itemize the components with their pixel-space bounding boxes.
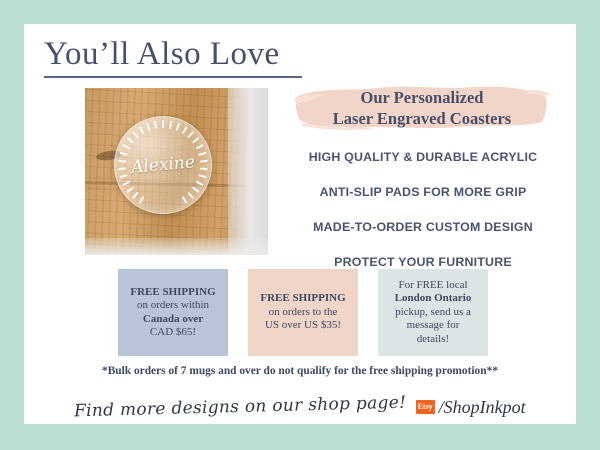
wreath-leaf-icon <box>154 121 157 129</box>
shipping-line: FREE SHIPPING <box>130 286 215 298</box>
acrylic-coaster: Alexine <box>114 116 212 214</box>
wreath-leaf-icon <box>122 144 130 149</box>
wreath-leaf-icon <box>192 186 200 192</box>
shipping-line: pickup, send us a <box>395 306 471 318</box>
page-title: You’ll Also Love <box>44 34 344 74</box>
coaster-engraved-name: Alexine <box>114 151 211 179</box>
wreath-leaf-icon <box>138 126 144 134</box>
headline-block: Our Personalized Laser Engraved Coasters <box>292 82 552 134</box>
wreath-leaf-icon <box>119 152 127 156</box>
wreath-leaf-icon <box>132 192 139 199</box>
shipping-line: US over US $35! <box>265 319 341 331</box>
wreath-leaf-icon <box>122 181 130 186</box>
shipping-line: message for <box>407 319 460 331</box>
shipping-box-text: FREE SHIPPING on orders within Canada ov… <box>125 286 220 340</box>
headline-line-1: Our Personalized <box>361 88 484 107</box>
photo-right-background <box>228 88 268 255</box>
promo-headline: Our Personalized Laser Engraved Coasters <box>292 87 552 129</box>
feature-item: ANTI-SLIP PADS FOR MORE GRIP <box>282 185 564 199</box>
wreath-leaf-icon <box>196 181 204 186</box>
wreath-leaf-icon <box>187 192 194 199</box>
feature-item: HIGH QUALITY & DURABLE ACRYLIC <box>282 150 564 164</box>
wreath-leaf-icon <box>187 131 194 138</box>
photo-bottom-background <box>85 238 268 255</box>
wreath-leaf-icon <box>182 196 188 204</box>
bulk-order-disclaimer: *Bulk orders of 7 mugs and over do not q… <box>24 365 576 377</box>
feature-item: MADE-TO-ORDER CUSTOM DESIGN <box>282 220 564 234</box>
shipping-box-canada: FREE SHIPPING on orders within Canada ov… <box>118 269 228 356</box>
shipping-line: CAD $65! <box>150 326 196 338</box>
wreath-leaf-icon <box>198 174 206 178</box>
product-photo: Alexine <box>85 88 268 255</box>
wreath-leaf-icon <box>126 186 134 192</box>
wreath-leaf-icon <box>126 137 134 143</box>
white-card: You’ll Also Love Alexine Our P <box>24 24 576 424</box>
shipping-box-us: FREE SHIPPING on orders to the US over U… <box>248 269 358 356</box>
shipping-line: details! <box>417 333 449 345</box>
wreath-leaf-icon <box>192 137 200 143</box>
headline-line-2: Laser Engraved Coasters <box>333 109 511 128</box>
footer-script-text: Find more designs on our shop page! <box>74 393 407 422</box>
etsy-shop-handle[interactable]: /ShopInkpot <box>439 397 526 418</box>
shipping-box-local-pickup: For FREE local London Ontario pickup, se… <box>378 269 488 356</box>
wreath-leaf-icon <box>182 126 188 134</box>
shipping-box-text: For FREE local London Ontario pickup, se… <box>390 279 477 347</box>
poster-canvas: You’ll Also Love Alexine Our P <box>0 0 600 450</box>
shipping-line: London Ontario <box>395 292 472 304</box>
wreath-leaf-icon <box>132 131 139 138</box>
shipping-line: on orders to the <box>269 306 338 318</box>
wreath-leaf-icon <box>146 123 151 131</box>
etsy-logo-icon[interactable]: Etsy <box>416 400 435 414</box>
shipping-line: Canada over <box>143 313 203 325</box>
shipping-line: For FREE local <box>398 279 467 291</box>
title-block: You’ll Also Love <box>44 34 344 78</box>
shipping-line: FREE SHIPPING <box>260 292 345 304</box>
wreath-leaf-icon <box>175 123 180 131</box>
title-underline-rule <box>44 76 302 78</box>
shipping-box-text: FREE SHIPPING on orders to the US over U… <box>255 292 350 333</box>
wreath-leaf-icon <box>169 121 172 129</box>
wreath-leaf-icon <box>196 144 204 149</box>
footer-shop-callout: Find more designs on our shop page! Etsy… <box>24 392 576 422</box>
wreath-leaf-icon <box>138 196 144 204</box>
shipping-line: on orders within <box>137 299 209 311</box>
wreath-leaf-icon <box>162 120 164 128</box>
feature-item: PROTECT YOUR FURNITURE <box>282 255 564 269</box>
